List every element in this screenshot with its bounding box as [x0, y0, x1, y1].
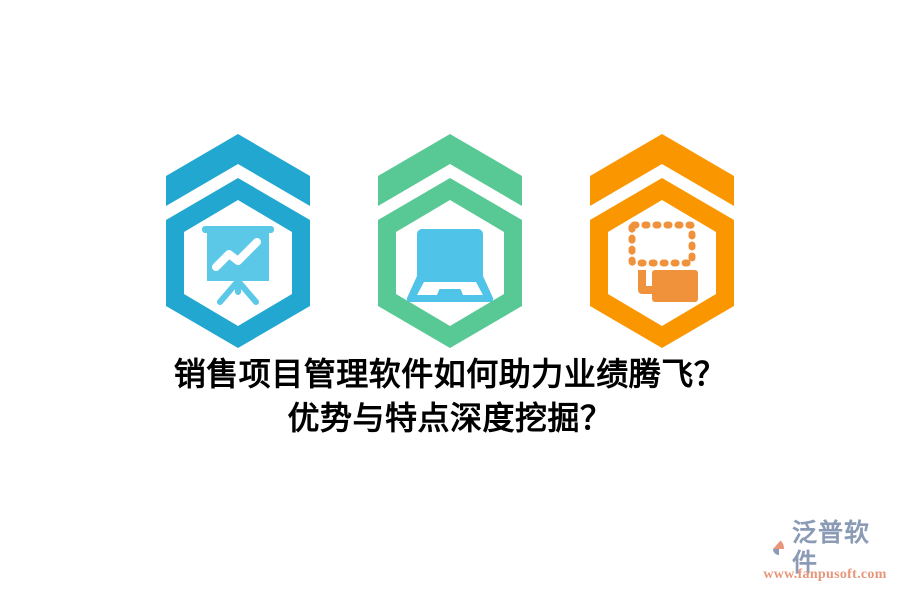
laptop-glyph: [407, 229, 493, 302]
badge-presentation-chart: [160, 130, 316, 355]
logo-mark-row: 泛普软件: [752, 530, 892, 566]
title-line-2: 优势与特点深度挖掘？: [0, 396, 900, 440]
badge-laptop: [372, 130, 528, 355]
brand-logo: 泛普软件 www.fanpusoft.com: [752, 530, 892, 592]
fanpu-logo-mark-icon: [760, 533, 790, 563]
badge-selection-tool: [584, 130, 740, 355]
icon-row: [0, 130, 900, 355]
page-title: 销售项目管理软件如何助力业绩腾飞？ 优势与特点深度挖掘？: [0, 352, 900, 440]
presentation-chart-glyph: [202, 226, 274, 302]
selection-marquee-glyph: [632, 225, 698, 302]
banner-canvas: 销售项目管理软件如何助力业绩腾飞？ 优势与特点深度挖掘？ 泛普软件 www.fa…: [0, 0, 900, 600]
logo-url: www.fanpusoft.com: [752, 566, 892, 584]
title-line-1: 销售项目管理软件如何助力业绩腾飞？: [0, 352, 900, 396]
